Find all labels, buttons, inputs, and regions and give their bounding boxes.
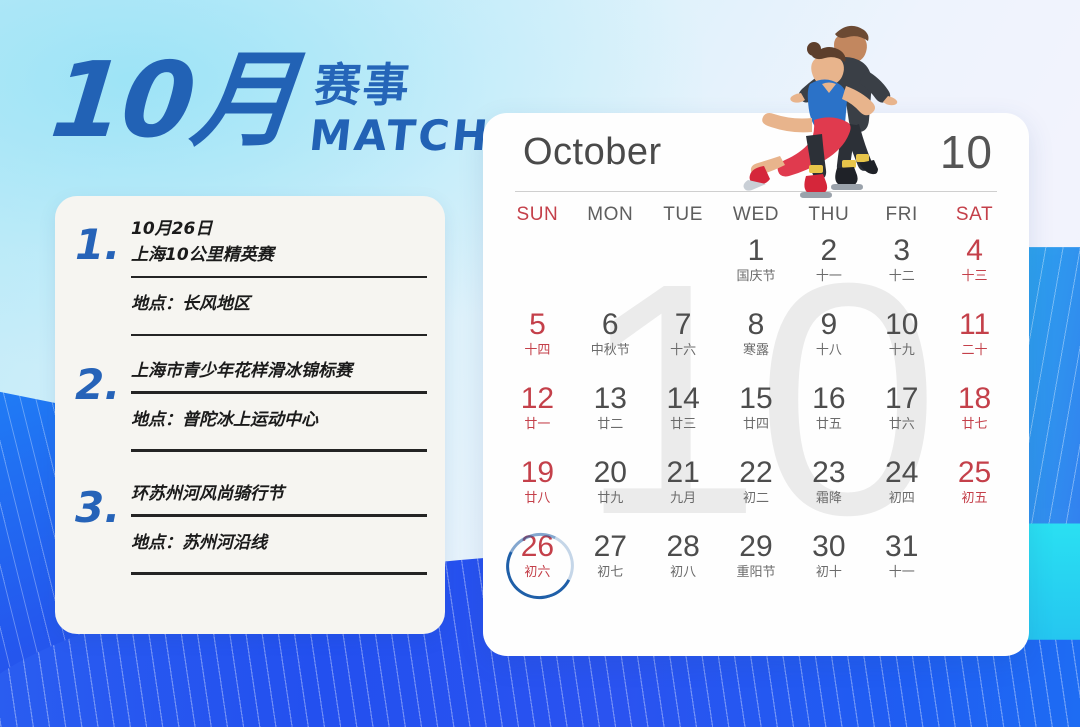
calendar-day-cell[interactable]: 31十一 bbox=[865, 530, 938, 598]
calendar-day-lunar-label: 廿五 bbox=[792, 417, 865, 433]
calendar-day-number: 17 bbox=[865, 382, 938, 416]
calendar-day-lunar-label: 重阳节 bbox=[720, 565, 793, 581]
calendar-day-number: 1 bbox=[720, 234, 793, 268]
calendar-day-number: 16 bbox=[792, 382, 865, 416]
calendar-day-lunar-label: 廿七 bbox=[938, 417, 1011, 433]
list-item-number: 2. bbox=[75, 364, 120, 406]
weekday-label-tue: TUE bbox=[647, 204, 720, 226]
calendar-day-cell[interactable]: 5十四 bbox=[501, 308, 574, 376]
divider bbox=[131, 572, 427, 575]
calendar-day-cell[interactable]: 12廿一 bbox=[501, 382, 574, 450]
calendar-day-lunar-label: 廿一 bbox=[501, 417, 574, 433]
calendar-day-cell[interactable]: 25初五 bbox=[938, 456, 1011, 524]
calendar-day-lunar-label: 初五 bbox=[938, 491, 1011, 507]
page-title-cn: 赛事 bbox=[312, 62, 498, 108]
calendar-day-lunar-label: 霜降 bbox=[792, 491, 865, 507]
weekday-label-thu: THU bbox=[792, 204, 865, 226]
list-item-body: 环苏州河风尚骑行节 地点：苏州河沿线 bbox=[131, 481, 427, 575]
calendar-day-number: 6 bbox=[574, 308, 647, 342]
calendar-day-number: 28 bbox=[647, 530, 720, 564]
calendar-day-lunar-label: 初六 bbox=[501, 565, 574, 581]
page-title-en: MATCH bbox=[307, 114, 492, 158]
calendar-day-lunar-label: 廿九 bbox=[574, 491, 647, 507]
calendar-day-cell[interactable]: 13廿二 bbox=[574, 382, 647, 450]
divider bbox=[131, 334, 427, 337]
event-title-line: 10月26日 bbox=[131, 216, 427, 242]
weekday-label-sat: SAT bbox=[938, 204, 1011, 226]
list-item-number: 3. bbox=[75, 487, 120, 529]
calendar-day-cell[interactable]: 22初二 bbox=[720, 456, 793, 524]
calendar-day-cell[interactable]: 17廿六 bbox=[865, 382, 938, 450]
calendar-day-number: 19 bbox=[501, 456, 574, 490]
weekday-label-sun: SUN bbox=[501, 204, 574, 226]
calendar-day-number: 22 bbox=[720, 456, 793, 490]
calendar-grid: 1国庆节2十一3十二4十三5十四6中秋节7十六8寒露9十八10十九11二十12廿… bbox=[501, 234, 1011, 598]
calendar-day-number: 18 bbox=[938, 382, 1011, 416]
poster-title: 10月 赛事 MATCH bbox=[52, 48, 493, 158]
calendar-day-number: 14 bbox=[647, 382, 720, 416]
calendar-day-lunar-label: 国庆节 bbox=[720, 269, 793, 285]
calendar-day-lunar-label: 初八 bbox=[647, 565, 720, 581]
weekday-label-fri: FRI bbox=[865, 204, 938, 226]
calendar-day-lunar-label: 初七 bbox=[574, 565, 647, 581]
calendar-day-cell[interactable]: 24初四 bbox=[865, 456, 938, 524]
calendar-day-cell[interactable]: 7十六 bbox=[647, 308, 720, 376]
divider bbox=[131, 391, 427, 394]
calendar-day-number: 20 bbox=[574, 456, 647, 490]
calendar-day-number: 3 bbox=[865, 234, 938, 268]
calendar-day-lunar-label: 十八 bbox=[792, 343, 865, 359]
event-place: 地点：长风地区 bbox=[131, 291, 427, 317]
calendar-day-number: 5 bbox=[501, 308, 574, 342]
calendar-day-lunar-label: 廿六 bbox=[865, 417, 938, 433]
calendar-day-cell[interactable]: 29重阳节 bbox=[720, 530, 793, 598]
event-place: 地点：普陀冰上运动中心 bbox=[131, 407, 427, 433]
calendar-day-number: 9 bbox=[792, 308, 865, 342]
calendar-day-lunar-label: 廿四 bbox=[720, 417, 793, 433]
calendar-day-lunar-label: 廿三 bbox=[647, 417, 720, 433]
divider bbox=[131, 514, 427, 517]
calendar-day-cell[interactable]: 3十二 bbox=[865, 234, 938, 302]
calendar-day-lunar-label: 廿八 bbox=[501, 491, 574, 507]
calendar-day-lunar-label: 初十 bbox=[792, 565, 865, 581]
calendar-day-lunar-label: 十六 bbox=[647, 343, 720, 359]
calendar-day-number: 31 bbox=[865, 530, 938, 564]
figure-skating-pair-illustration bbox=[718, 8, 918, 198]
calendar-day-cell[interactable]: 14廿三 bbox=[647, 382, 720, 450]
events-card: 1. 10月26日 上海10公里精英赛 地点：长风地区 2. 上海市青少年花样滑… bbox=[55, 196, 445, 634]
weekday-label-wed: WED bbox=[720, 204, 793, 226]
calendar-day-lunar-label: 初四 bbox=[865, 491, 938, 507]
calendar-day-number: 23 bbox=[792, 456, 865, 490]
calendar-day-cell[interactable]: 11二十 bbox=[938, 308, 1011, 376]
calendar-day-number: 27 bbox=[574, 530, 647, 564]
calendar-day-lunar-label: 廿二 bbox=[574, 417, 647, 433]
list-item-body: 10月26日 上海10公里精英赛 地点：长风地区 bbox=[131, 216, 427, 336]
calendar-day-cell[interactable]: 21九月 bbox=[647, 456, 720, 524]
calendar-day-number: 11 bbox=[938, 308, 1011, 342]
calendar-day-number: 12 bbox=[501, 382, 574, 416]
calendar-day-cell[interactable]: 16廿五 bbox=[792, 382, 865, 450]
calendar-day-cell[interactable]: 27初七 bbox=[574, 530, 647, 598]
list-item-number: 1. bbox=[75, 224, 120, 266]
calendar-day-number: 30 bbox=[792, 530, 865, 564]
calendar-day-lunar-label: 九月 bbox=[647, 491, 720, 507]
calendar-day-number: 24 bbox=[865, 456, 938, 490]
event-title-line: 上海10公里精英赛 bbox=[131, 242, 427, 268]
calendar-day-number: 15 bbox=[720, 382, 793, 416]
calendar-day-cell[interactable]: 20廿九 bbox=[574, 456, 647, 524]
calendar-day-lunar-label: 中秋节 bbox=[574, 343, 647, 359]
calendar-day-number: 21 bbox=[647, 456, 720, 490]
calendar-day-cell[interactable]: 9十八 bbox=[792, 308, 865, 376]
weekday-label-mon: MON bbox=[574, 204, 647, 226]
divider bbox=[131, 449, 427, 452]
calendar-day-cell[interactable]: 4十三 bbox=[938, 234, 1011, 302]
page-title-month: 10月 bbox=[47, 48, 301, 152]
calendar-day-lunar-label: 十二 bbox=[865, 269, 938, 285]
calendar-day-cell[interactable]: 30初十 bbox=[792, 530, 865, 598]
calendar-day-lunar-label: 初二 bbox=[720, 491, 793, 507]
calendar-day-cell[interactable]: 18廿七 bbox=[938, 382, 1011, 450]
calendar-day-number: 29 bbox=[720, 530, 793, 564]
calendar-day-cell[interactable]: 10十九 bbox=[865, 308, 938, 376]
event-title-line: 环苏州河风尚骑行节 bbox=[131, 481, 427, 507]
poster-canvas: 10月 赛事 MATCH 1. 10月26日 上海10公里精英赛 地点：长风地区… bbox=[0, 0, 1080, 727]
calendar-day-number: 25 bbox=[938, 456, 1011, 490]
calendar-day-cell[interactable]: 1国庆节 bbox=[720, 234, 793, 302]
calendar-day-lunar-label: 十四 bbox=[501, 343, 574, 359]
calendar-day-cell[interactable]: 6中秋节 bbox=[574, 308, 647, 376]
divider bbox=[131, 276, 427, 279]
calendar-grid-wrapper: 10 1国庆节2十一3十二4十三5十四6中秋节7十六8寒露9十八10十九11二十… bbox=[483, 230, 1029, 598]
calendar-day-lunar-label: 寒露 bbox=[720, 343, 793, 359]
calendar-day-cell[interactable]: 28初八 bbox=[647, 530, 720, 598]
calendar-day-lunar-label: 十三 bbox=[938, 269, 1011, 285]
calendar-day-number: 26 bbox=[501, 530, 574, 564]
calendar-day-lunar-label: 十九 bbox=[865, 343, 938, 359]
calendar-day-number: 8 bbox=[720, 308, 793, 342]
list-item-body: 上海市青少年花样滑冰锦标赛 地点：普陀冰上运动中心 bbox=[131, 358, 427, 452]
calendar-day-cell[interactable]: 8寒露 bbox=[720, 308, 793, 376]
calendar-day-cell[interactable]: 2十一 bbox=[792, 234, 865, 302]
calendar-day-number: 7 bbox=[647, 308, 720, 342]
calendar-day-cell[interactable]: 23霜降 bbox=[792, 456, 865, 524]
calendar-day-number: 4 bbox=[938, 234, 1011, 268]
calendar-day-cell[interactable]: 19廿八 bbox=[501, 456, 574, 524]
calendar-day-number: 2 bbox=[792, 234, 865, 268]
event-place: 地点：苏州河沿线 bbox=[131, 530, 427, 556]
calendar-day-cell[interactable]: 15廿四 bbox=[720, 382, 793, 450]
calendar-month-name: October bbox=[523, 131, 662, 174]
calendar-day-number: 10 bbox=[865, 308, 938, 342]
calendar-day-lunar-label: 十一 bbox=[865, 565, 938, 581]
calendar-day-cell[interactable]: 26初六 bbox=[501, 530, 574, 598]
event-title-line: 上海市青少年花样滑冰锦标赛 bbox=[131, 358, 427, 384]
calendar-day-number: 13 bbox=[574, 382, 647, 416]
calendar-day-lunar-label: 二十 bbox=[938, 343, 1011, 359]
calendar-month-number: 10 bbox=[940, 125, 993, 179]
calendar-day-lunar-label: 十一 bbox=[792, 269, 865, 285]
page-title-sub: 赛事 MATCH bbox=[307, 48, 499, 158]
